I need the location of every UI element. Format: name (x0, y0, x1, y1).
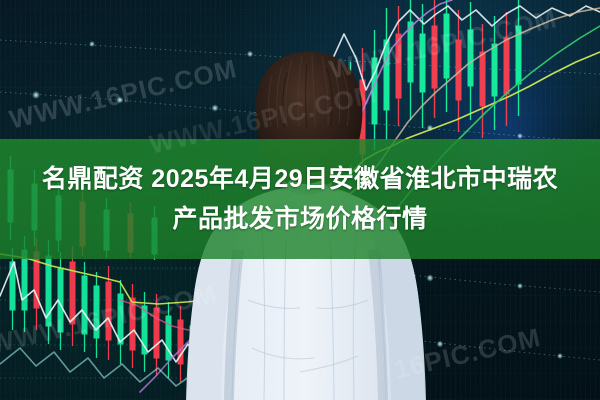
headline-title: 名鼎配资 2025年4月29日安徽省淮北市中瑞农 产品批发市场价格行情 (0, 139, 600, 259)
headline-line-1: 名鼎配资 2025年4月29日安徽省淮北市中瑞农 (42, 159, 558, 199)
headline-line-2: 产品批发市场价格行情 (172, 199, 427, 239)
article-header-image: WWW.16PIC.COM WWW.16PIC.COM WWW.16PIC.CO… (0, 0, 600, 400)
